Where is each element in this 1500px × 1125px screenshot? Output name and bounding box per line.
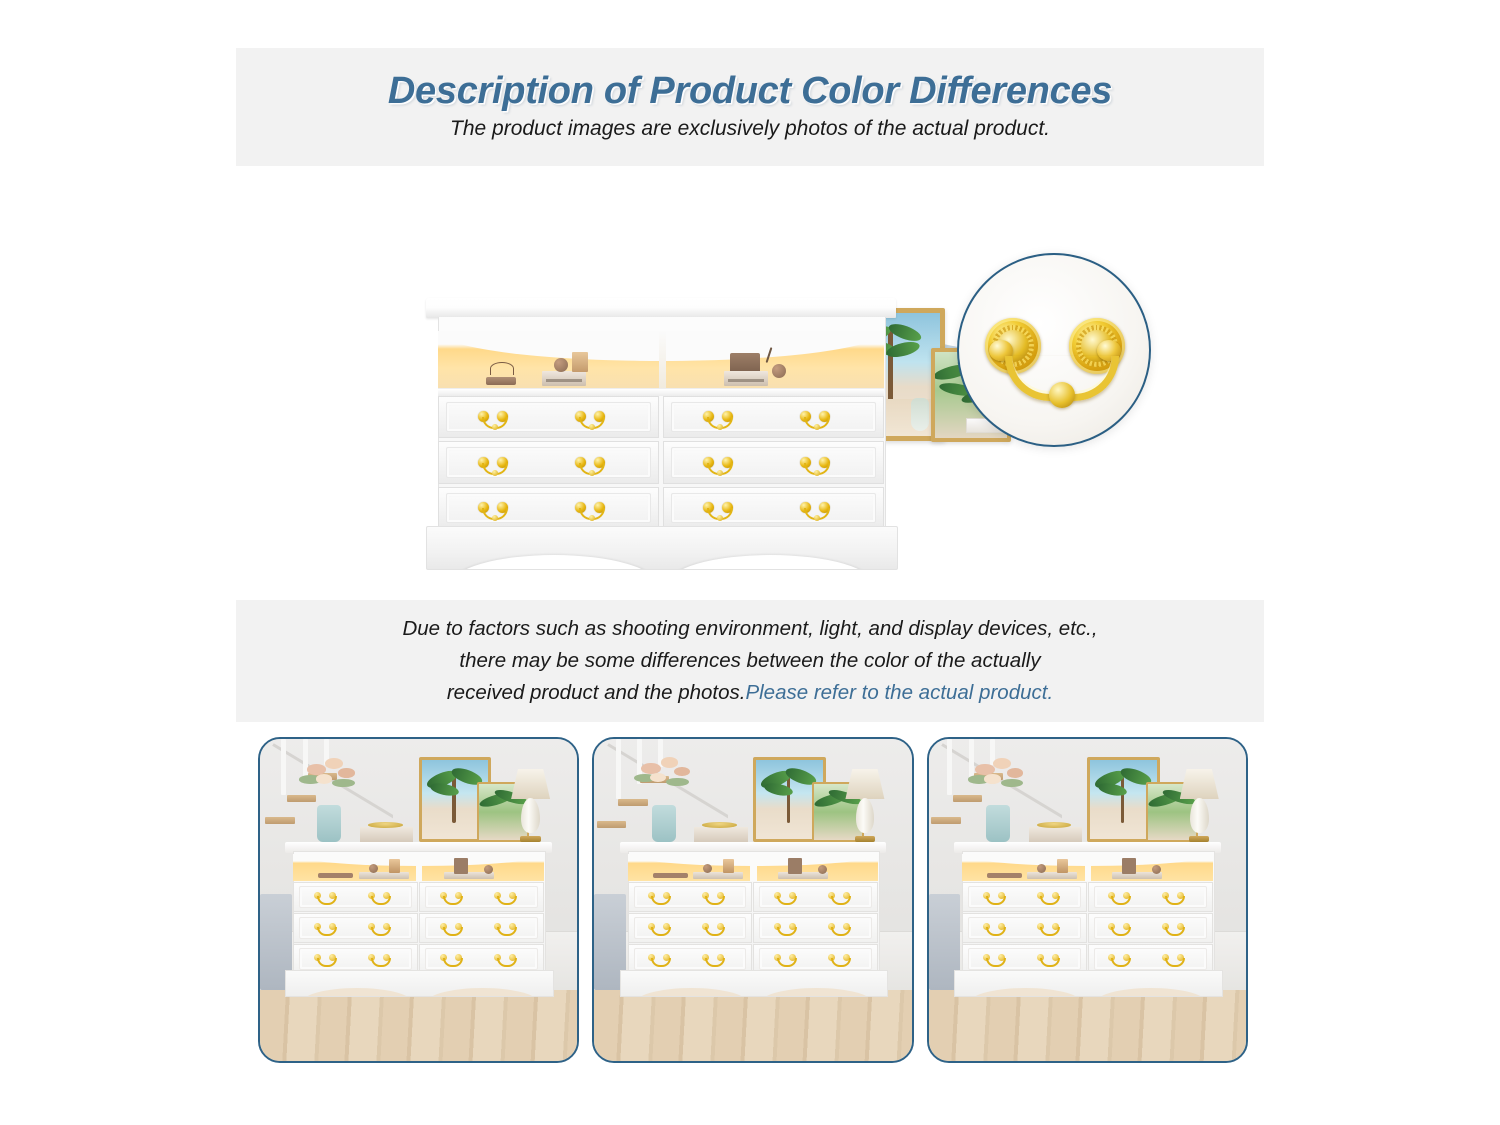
- thumb-drawer-3[interactable]: [293, 913, 418, 943]
- thumbnail-decor-items: [620, 745, 887, 842]
- thumb-drawer-2[interactable]: [753, 882, 878, 912]
- sphere-decor-right: [772, 364, 786, 378]
- page-subtitle: The product images are exclusively photo…: [450, 116, 1050, 141]
- disclaimer-line-1: Due to factors such as shooting environm…: [402, 613, 1097, 645]
- thumb-drawer-2[interactable]: [1088, 882, 1213, 912]
- room-scene-thumbnail-3[interactable]: [927, 737, 1248, 1063]
- product-infographic-page: Description of Product Color Differences…: [0, 0, 1500, 1125]
- thumb-drawer-2[interactable]: [419, 882, 544, 912]
- drawer-row2-right[interactable]: [663, 441, 884, 483]
- product-dresser: [426, 298, 896, 568]
- drawer-row1-left[interactable]: [438, 396, 659, 438]
- thumb-drawer-1[interactable]: [628, 882, 753, 912]
- shelf-lip: [438, 388, 884, 396]
- thumb-drawer-3[interactable]: [962, 913, 1087, 943]
- page-title: Description of Product Color Differences: [388, 72, 1112, 112]
- thumb-drawer-4[interactable]: [419, 913, 544, 943]
- thumbnail-dresser: [620, 842, 887, 997]
- disclaimer-line-3: received product and the photos.Please r…: [447, 677, 1053, 709]
- thumbnail-decor-items: [285, 745, 552, 842]
- glass-vase-decor: [911, 398, 929, 431]
- thumb-drawer-1[interactable]: [293, 882, 418, 912]
- thumb-drawer-1[interactable]: [962, 882, 1087, 912]
- drawer-row1-right[interactable]: [663, 396, 884, 438]
- drawer-row3-right[interactable]: [663, 487, 884, 529]
- room-scene-thumbnail-1[interactable]: [258, 737, 579, 1063]
- tray-decor-left: [486, 377, 516, 385]
- handle-magnifier-circle: [957, 253, 1151, 447]
- shelf-book-london: [542, 371, 586, 386]
- disclaimer-line-3-plain: received product and the photos.: [447, 681, 746, 704]
- lamp-decor: [509, 769, 552, 842]
- thumbnail-dresser: [285, 842, 552, 997]
- sphere-decor-left: [554, 358, 568, 372]
- thumbnail-decor-items: [954, 745, 1221, 842]
- thumb-drawer-4[interactable]: [753, 913, 878, 943]
- thumb-drawer-3[interactable]: [628, 913, 753, 943]
- drawer-grid: [438, 396, 884, 527]
- lamp-decor: [1178, 769, 1221, 842]
- flower-bouquet-decor: [962, 751, 1037, 811]
- drawer-row2-left[interactable]: [438, 441, 659, 483]
- dresser-plinth: [426, 526, 898, 570]
- room-scene-thumbnail-row: [258, 737, 1248, 1059]
- room-scene-thumbnail-2[interactable]: [592, 737, 913, 1063]
- led-open-shelf: [438, 331, 884, 391]
- thumb-drawer-4[interactable]: [1088, 913, 1213, 943]
- flower-bouquet-decor: [293, 751, 368, 811]
- lamp-decor: [844, 769, 887, 842]
- drawer-row3-left[interactable]: [438, 487, 659, 529]
- dresser-top-surface: [426, 298, 896, 318]
- hero-product-scene: [236, 166, 1264, 600]
- gold-drawer-pull-closeup: [985, 318, 1125, 396]
- flower-bouquet-decor: [628, 751, 703, 811]
- thumbnail-dresser: [954, 842, 1221, 997]
- header-banner: Description of Product Color Differences…: [236, 48, 1264, 166]
- block-decor-left: [572, 352, 588, 372]
- wire-decor-left: [490, 362, 514, 375]
- disclaimer-line-2: there may be some differences between th…: [459, 645, 1040, 677]
- disclaimer-highlight: Please refer to the actual product.: [745, 681, 1053, 704]
- disclaimer-banner: Due to factors such as shooting environm…: [236, 600, 1264, 722]
- shelf-book-eat-drink-nap: [724, 371, 768, 386]
